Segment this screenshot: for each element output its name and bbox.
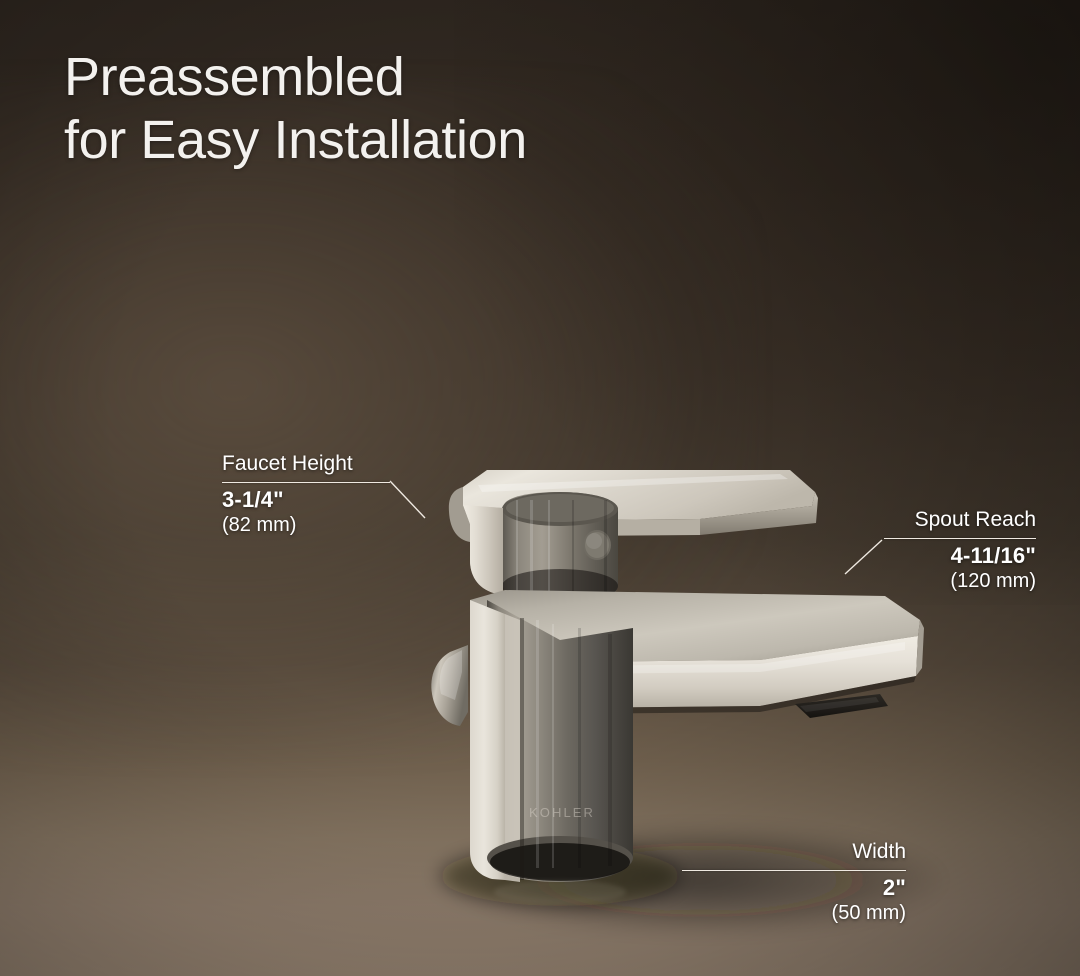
callout-faucet-height-rule	[222, 482, 390, 483]
callout-faucet-height: Faucet Height 3-1/4" (82 mm)	[222, 452, 390, 538]
callout-width-title: Width	[682, 840, 906, 865]
callout-width: Width 2" (50 mm)	[682, 840, 906, 926]
callout-width-imperial: 2"	[682, 875, 906, 901]
callout-width-rule	[682, 870, 906, 871]
callout-spout-reach-title: Spout Reach	[884, 508, 1036, 533]
callout-width-metric: (50 mm)	[682, 901, 906, 926]
faucet-handle-hub	[463, 492, 618, 606]
product-image: KOHLER Preassembled for Easy Installatio…	[0, 0, 1080, 976]
callout-faucet-height-imperial: 3-1/4"	[222, 487, 390, 513]
callout-spout-reach-rule	[884, 538, 1036, 539]
callout-faucet-height-title: Faucet Height	[222, 452, 390, 477]
callout-spout-reach: Spout Reach 4-11/16" (120 mm)	[884, 508, 1036, 594]
callout-faucet-height-metric: (82 mm)	[222, 513, 390, 538]
page-title: Preassembled for Easy Installation	[64, 46, 527, 171]
callout-spout-reach-metric: (120 mm)	[884, 569, 1036, 594]
kohler-brand-mark: KOHLER	[529, 805, 595, 820]
faucet-drain-lever	[431, 645, 468, 726]
faucet-base-reflection	[494, 880, 626, 904]
faucet-body: KOHLER	[470, 600, 633, 882]
callout-spout-reach-imperial: 4-11/16"	[884, 543, 1036, 569]
